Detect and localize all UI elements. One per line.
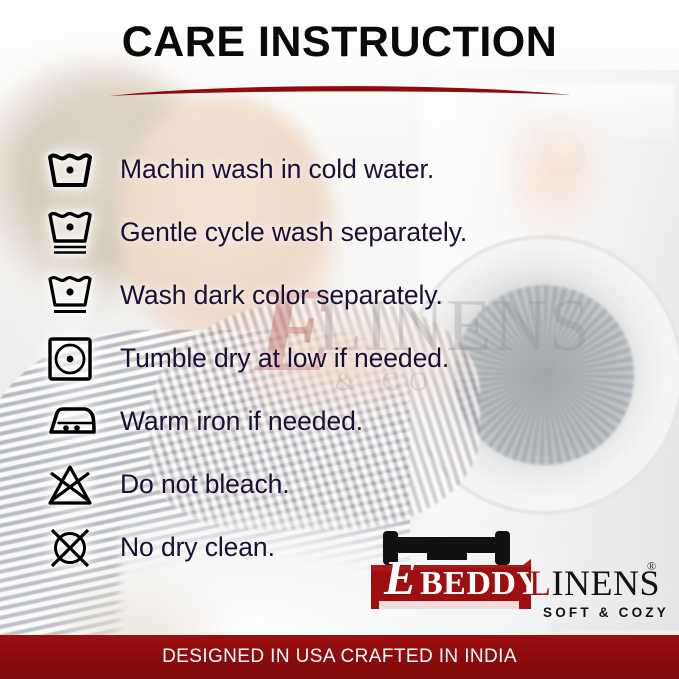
instruction-row: Gentle cycle wash separately. xyxy=(0,201,679,264)
instruction-row: Wash dark color separately. xyxy=(0,264,679,327)
no-dry-clean-icon xyxy=(44,522,96,574)
brand-linens-first-letter: L xyxy=(529,563,552,603)
instruction-row: Do not bleach. xyxy=(0,453,679,516)
instruction-text: Warm iron if needed. xyxy=(120,406,363,437)
care-instruction-card: E LINENS ® & CO CARE INSTRUCTION Machin … xyxy=(0,0,679,679)
instruction-text: Gentle cycle wash separately. xyxy=(120,217,467,248)
instruction-list: Machin wash in cold water. Gentle cycle … xyxy=(0,138,679,579)
wash-tub-icon xyxy=(44,144,96,196)
instruction-text: Tumble dry at low if needed. xyxy=(120,343,449,374)
brand-linens-word: LINENS xyxy=(529,565,660,601)
brand-tagline: SOFT & COZY xyxy=(543,605,669,620)
instruction-text: Machin wash in cold water. xyxy=(120,154,434,185)
instruction-text: Do not bleach. xyxy=(120,469,290,500)
brand-name: BEDDY xyxy=(420,567,542,601)
instruction-row: Warm iron if needed. xyxy=(0,390,679,453)
instruction-text: No dry clean. xyxy=(120,532,275,563)
footer-text: DESIGNED IN USA CRAFTED IN INDIA xyxy=(162,646,517,668)
page-title: CARE INSTRUCTION xyxy=(0,20,679,65)
do-not-bleach-icon xyxy=(44,459,96,511)
brand-linens-rest: INENS xyxy=(552,563,661,603)
footer-banner: DESIGNED IN USA CRAFTED IN INDIA xyxy=(0,635,679,679)
brand-logo: E BEDDY LINENS ® SOFT & COZY xyxy=(371,529,671,627)
instruction-row: Tumble dry at low if needed. xyxy=(0,327,679,390)
instruction-text: Wash dark color separately. xyxy=(120,280,443,311)
registered-trademark-icon: ® xyxy=(647,559,656,574)
brand-initial: E xyxy=(384,553,417,602)
iron-warm-icon xyxy=(44,396,96,448)
tumble-dry-low-icon xyxy=(44,333,96,385)
header: CARE INSTRUCTION xyxy=(0,20,679,65)
instruction-row: Machin wash in cold water. xyxy=(0,138,679,201)
wash-tub-delicate-icon xyxy=(44,207,96,259)
wash-tub-permanent-press-icon xyxy=(44,270,96,322)
